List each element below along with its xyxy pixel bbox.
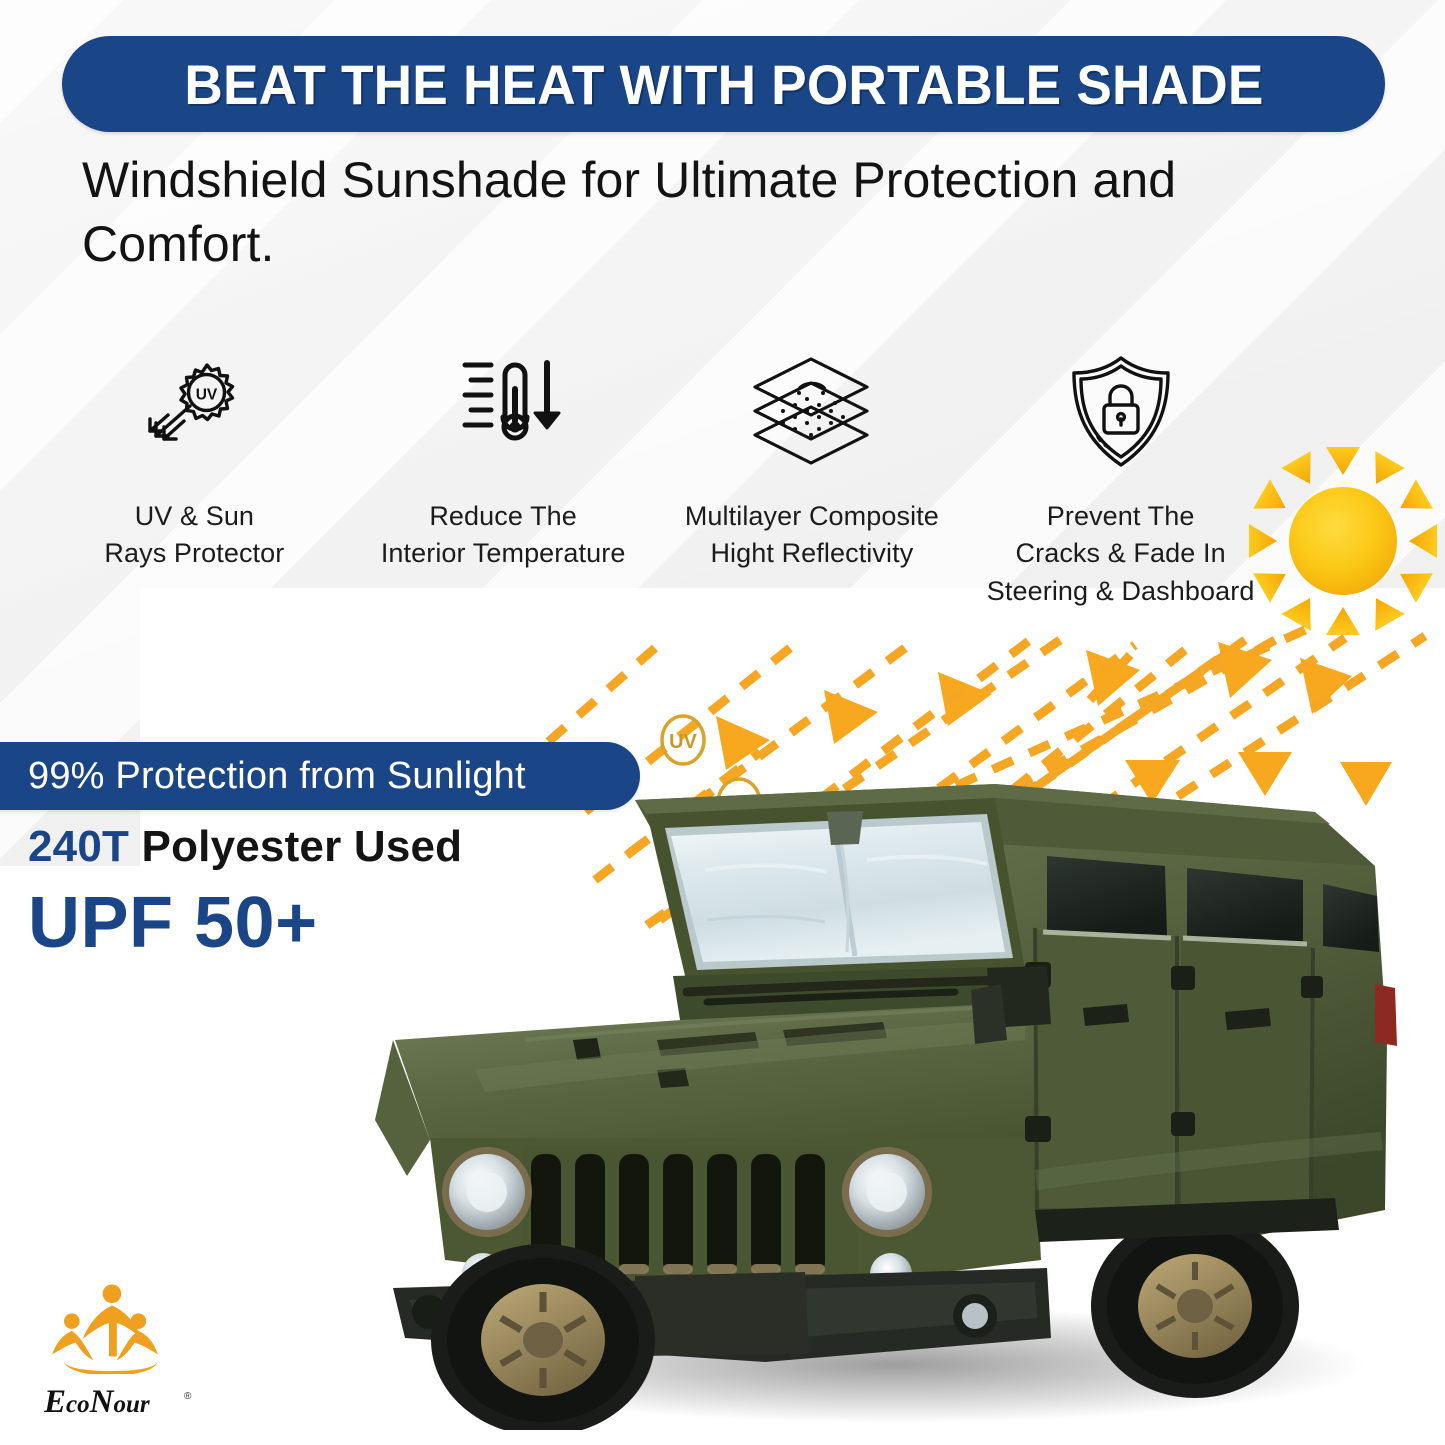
jeep-wrangler-illustration <box>335 740 1445 1430</box>
svg-text:UV: UV <box>196 387 218 404</box>
feature-label: Prevent The Cracks & Fade In Steering & … <box>987 498 1255 610</box>
feature-label-line: Prevent The <box>987 498 1255 535</box>
econour-logo-mark <box>50 1282 168 1374</box>
infographic-canvas: BEAT THE HEAT WITH PORTABLE SHADE Windsh… <box>0 0 1445 1445</box>
sun-icon <box>1243 443 1443 639</box>
feature-label: Multilayer Composite Hight Reflectivity <box>685 498 939 573</box>
feature-label: Reduce The Interior Temperature <box>381 498 626 573</box>
shield-lock-icon <box>1062 352 1180 472</box>
subtitle-text: Windshield Sunshade for Ultimate Protect… <box>82 148 1312 276</box>
feature-item-uv-protection: UV UV & Sun Rays Protector <box>40 352 349 573</box>
headline-banner: BEAT THE HEAT WITH PORTABLE SHADE <box>62 36 1385 132</box>
svg-text:EcoNour: EcoNour <box>44 1384 150 1420</box>
thermometer-down-arrow-icon <box>443 352 563 472</box>
feature-label-line: UV & Sun <box>104 498 284 535</box>
feature-label-line: Multilayer Composite <box>685 498 939 535</box>
feature-label: UV & Sun Rays Protector <box>104 498 284 573</box>
headline-text: BEAT THE HEAT WITH PORTABLE SHADE <box>184 52 1263 117</box>
feature-label-line: Interior Temperature <box>381 535 626 572</box>
feature-item-prevent-cracks: Prevent The Cracks & Fade In Steering & … <box>966 352 1275 610</box>
uv-sun-rays-icon: UV <box>134 352 254 472</box>
feature-label-line: Reduce The <box>381 498 626 535</box>
feature-label-line: Cracks & Fade In <box>987 535 1255 572</box>
feature-label-line: Steering & Dashboard <box>987 573 1255 610</box>
econour-wordmark: EcoNour ® <box>44 1381 204 1423</box>
feature-item-multilayer: Multilayer Composite Hight Reflectivity <box>658 352 967 573</box>
feature-item-reduce-temperature: Reduce The Interior Temperature <box>349 352 658 573</box>
feature-label-line: Rays Protector <box>104 535 284 572</box>
multilayer-stack-icon <box>749 352 874 472</box>
upf-rating: UPF 50+ <box>28 882 318 964</box>
brand-logo: EcoNour ® <box>44 1282 214 1420</box>
feature-row: UV UV & Sun Rays Protector <box>40 352 1275 592</box>
svg-text:®: ® <box>184 1391 192 1402</box>
fabric-spec-highlight: 240T <box>28 822 129 871</box>
feature-label-line: Hight Reflectivity <box>685 535 939 572</box>
